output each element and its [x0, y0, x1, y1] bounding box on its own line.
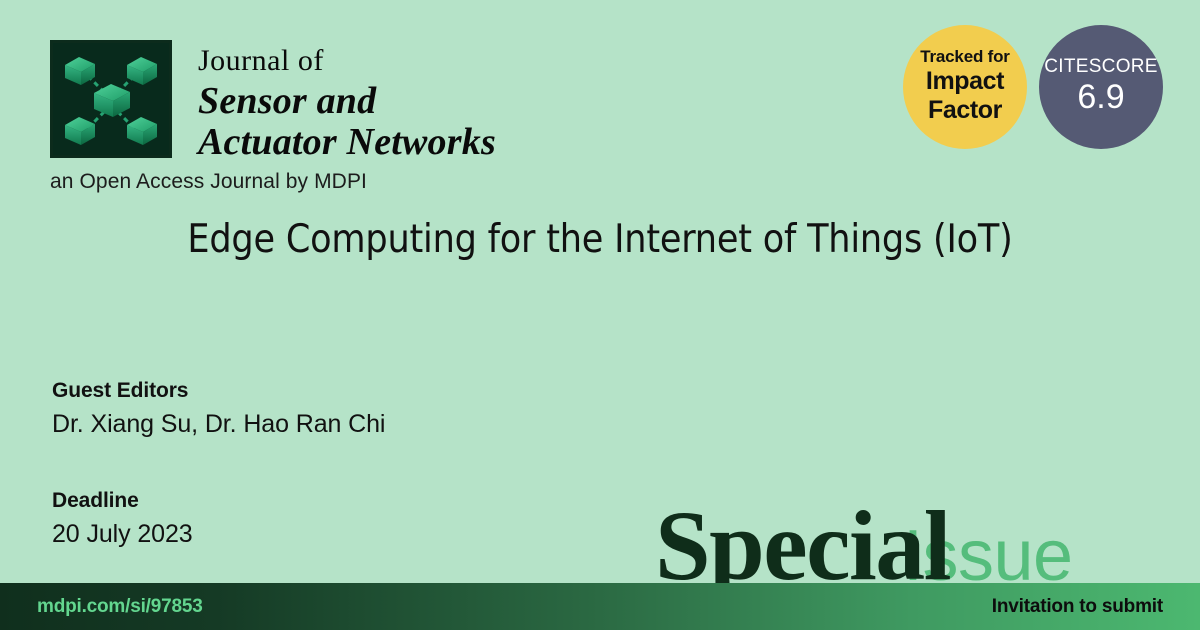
deadline-block: Deadline 20 July 2023: [52, 488, 193, 551]
journal-name-line-1: Sensor and: [198, 80, 376, 122]
impact-factor-top-label: Tracked for: [920, 48, 1009, 67]
watermark-word-issue: Issue: [903, 520, 1073, 592]
guest-editors-label: Guest Editors: [52, 378, 385, 404]
journal-name-line-2: Actuator Networks: [198, 123, 496, 161]
special-issue-url[interactable]: mdpi.com/si/97853: [37, 596, 203, 618]
journal-prefix: Journal of: [198, 46, 496, 76]
guest-editors-value: Dr. Xiang Su, Dr. Hao Ran Chi: [52, 408, 385, 441]
open-access-tagline: an Open Access Journal by MDPI: [50, 170, 367, 194]
special-issue-poster: Journal of Sensor and Actuator Networks …: [0, 0, 1200, 630]
deadline-label: Deadline: [52, 488, 193, 514]
impact-factor-badge: Tracked for Impact Factor: [903, 25, 1027, 149]
journal-metric-badges: Tracked for Impact Factor CITESCORE 6.9: [903, 25, 1163, 149]
watermark-word-special: Special: [655, 496, 950, 596]
invitation-to-submit-label: Invitation to submit: [992, 596, 1163, 618]
deadline-value: 20 July 2023: [52, 518, 193, 551]
journal-title: Journal of Sensor and Actuator Networks: [198, 40, 496, 161]
journal-name: Sensor and Actuator Networks: [198, 82, 496, 161]
journal-branding: Journal of Sensor and Actuator Networks: [50, 40, 496, 161]
impact-factor-line-2: Impact: [926, 67, 1004, 95]
guest-editors-block: Guest Editors Dr. Xiang Su, Dr. Hao Ran …: [52, 378, 385, 441]
special-issue-title: Edge Computing for the Internet of Thing…: [140, 215, 1060, 265]
citescore-badge: CITESCORE 6.9: [1039, 25, 1163, 149]
impact-factor-line-3: Factor: [928, 96, 1002, 124]
special-issue-watermark: Issue Special: [655, 496, 1200, 596]
footer-bar: mdpi.com/si/97853 Invitation to submit: [0, 583, 1200, 630]
citescore-label: CITESCORE: [1044, 57, 1158, 78]
network-cubes-logo-icon: [50, 40, 172, 158]
citescore-value: 6.9: [1077, 79, 1124, 116]
